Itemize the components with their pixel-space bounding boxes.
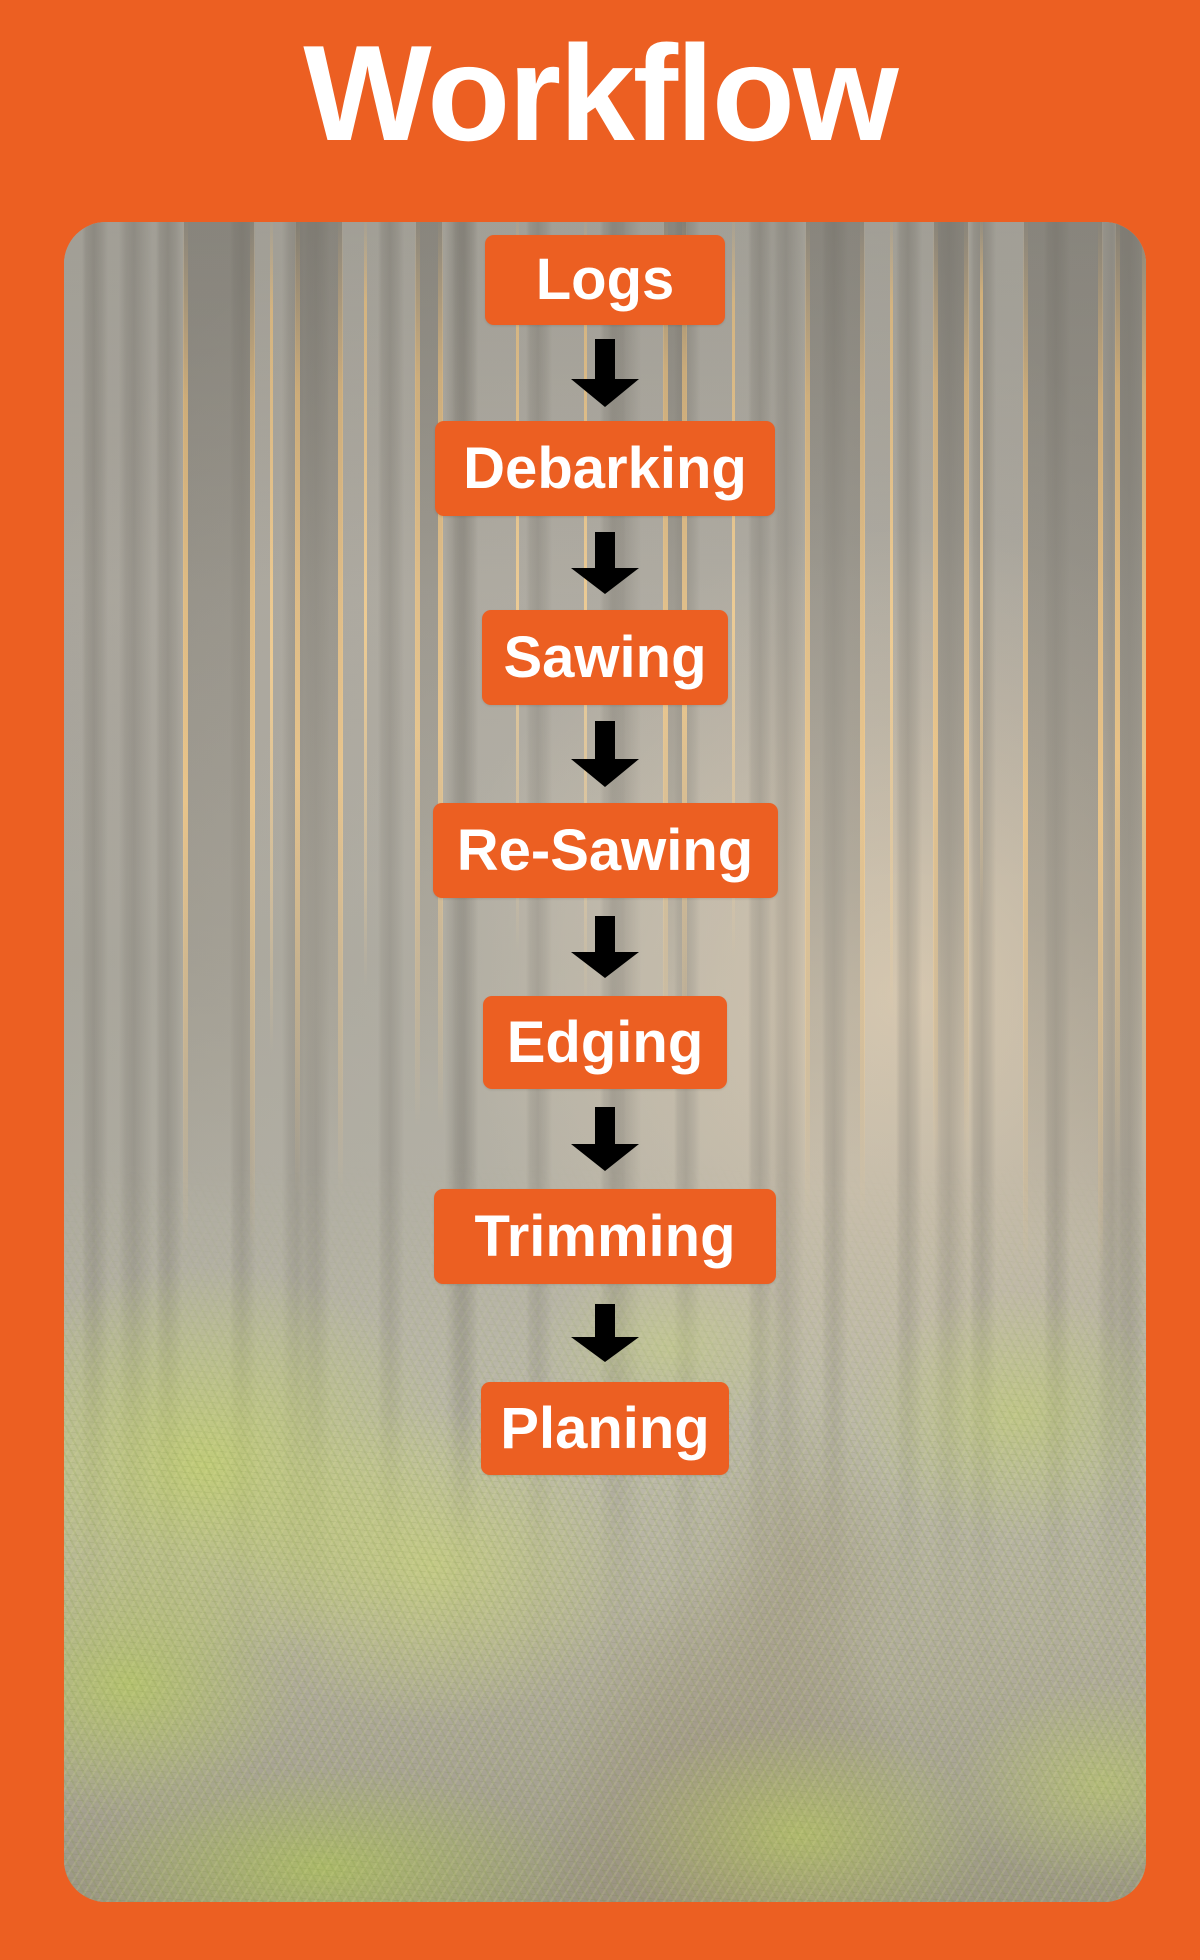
photo-card: Logs Debarking Sawing Re-Sawing (64, 222, 1146, 1902)
flow-node-label: Edging (507, 1014, 704, 1072)
arrow-down-icon (571, 532, 639, 594)
flow-node-resawing[interactable]: Re-Sawing (433, 803, 778, 898)
workflow-poster: Workflow Logs (0, 0, 1200, 1960)
arrow-down-icon (571, 916, 639, 978)
arrow-down-icon (571, 1107, 639, 1171)
arrow-down-icon (571, 1304, 639, 1362)
flow-node-sawing[interactable]: Sawing (482, 610, 728, 705)
flow-node-debarking[interactable]: Debarking (435, 421, 775, 516)
flow-node-label: Re-Sawing (457, 822, 754, 880)
flow-node-logs[interactable]: Logs (485, 235, 725, 325)
flow-node-label: Sawing (503, 629, 706, 687)
flow-node-planing[interactable]: Planing (481, 1382, 729, 1475)
flow-node-trimming[interactable]: Trimming (434, 1189, 776, 1284)
page-title: Workflow (0, 18, 1200, 168)
workflow-flowchart: Logs Debarking Sawing Re-Sawing (64, 222, 1146, 1902)
flow-node-label: Planing (500, 1400, 709, 1458)
flow-node-label: Trimming (474, 1208, 735, 1266)
flow-node-edging[interactable]: Edging (483, 996, 727, 1089)
flow-node-label: Debarking (463, 440, 747, 498)
arrow-down-icon (571, 721, 639, 787)
arrow-down-icon (571, 339, 639, 407)
flow-node-label: Logs (536, 251, 675, 309)
